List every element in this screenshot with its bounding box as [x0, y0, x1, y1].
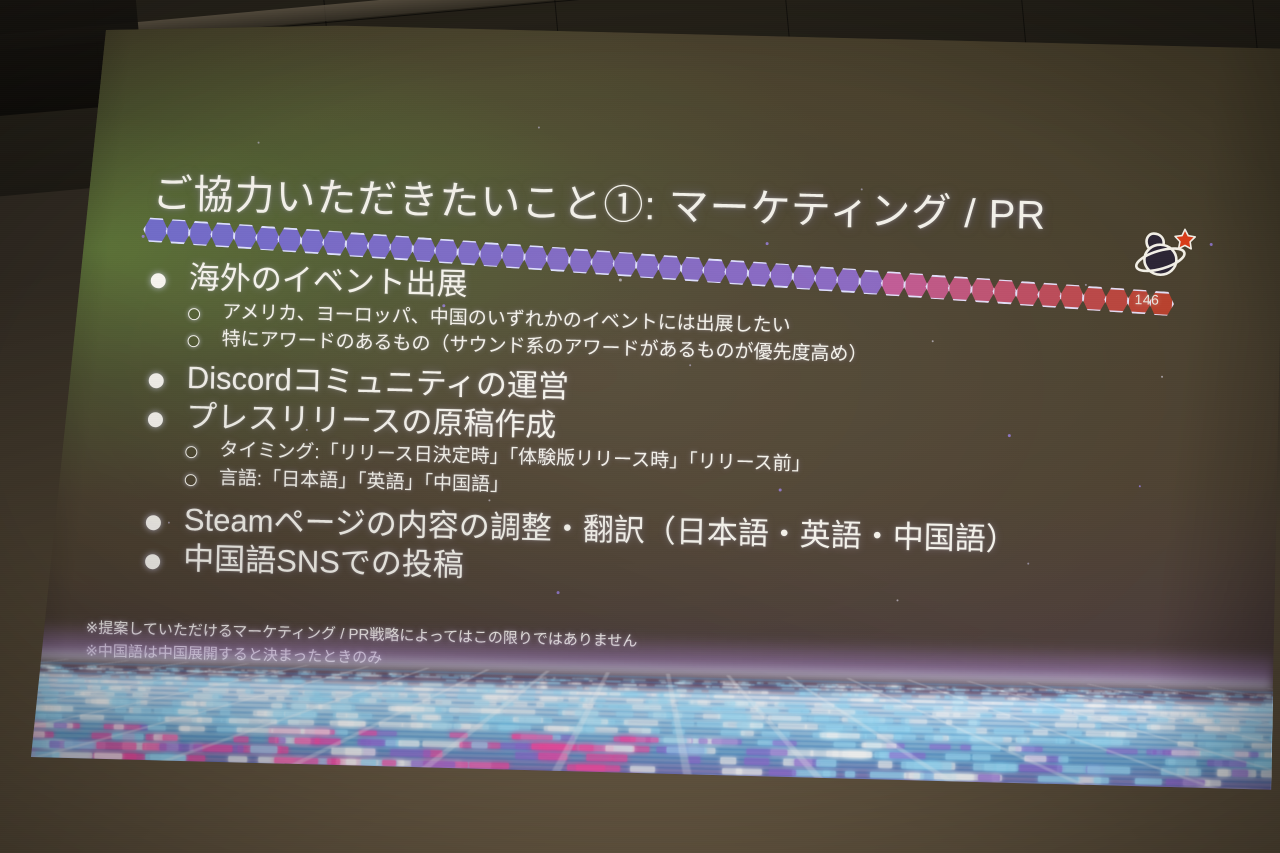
- grid-block: [1030, 738, 1058, 744]
- grid-block: [639, 684, 647, 687]
- grid-block: [258, 675, 278, 678]
- grid-block: [625, 688, 630, 691]
- grid-block: [769, 696, 779, 700]
- bullet-text: 中国語SNSでの投稿: [183, 541, 464, 583]
- grid-block: [526, 717, 551, 723]
- grid-block: [391, 706, 411, 711]
- grid-block: [91, 667, 107, 670]
- grid-block: [95, 680, 108, 684]
- grid-block: [822, 733, 838, 739]
- grid-block: [150, 672, 164, 675]
- grid-block: [423, 741, 463, 748]
- grid-block: [52, 666, 56, 668]
- grid-block: [1024, 755, 1046, 762]
- grid-block: [304, 697, 330, 702]
- grid-block: [475, 701, 490, 706]
- grid-block: [408, 707, 436, 712]
- grid-block: [291, 704, 308, 709]
- grid-block: [190, 694, 220, 699]
- grid-block: [285, 711, 316, 717]
- grid-block: [512, 685, 524, 688]
- grid-block: [390, 687, 405, 691]
- grid-block: [901, 762, 940, 769]
- grid-block: [870, 718, 885, 723]
- grid-block: [274, 719, 300, 725]
- grid-block: [121, 700, 128, 705]
- grid-block: [651, 693, 660, 697]
- grid-block: [240, 683, 250, 687]
- grid-block: [583, 697, 594, 701]
- grid-block: [1180, 706, 1193, 710]
- grid-block: [393, 760, 433, 768]
- grid-block: [722, 683, 734, 686]
- grid-block: [927, 763, 955, 770]
- grid-block: [213, 678, 235, 682]
- grid-block: [778, 702, 806, 706]
- grid-block: [550, 753, 563, 760]
- planet-cat-logo: [1129, 223, 1202, 287]
- grid-block: [649, 699, 675, 703]
- grid-block: [102, 675, 111, 678]
- grid-block: [784, 716, 807, 721]
- grid-block: [609, 692, 620, 696]
- grid-block: [559, 679, 571, 682]
- grid-block: [217, 683, 240, 687]
- grid-block: [664, 737, 691, 743]
- grid-block: [1261, 708, 1280, 712]
- grid-block: [751, 702, 767, 706]
- grid-block: [166, 668, 178, 670]
- grid-block: [618, 688, 638, 692]
- grid-block: [503, 685, 508, 688]
- grid-block: [315, 738, 341, 745]
- grid-block: [1088, 704, 1106, 708]
- grid-block: [940, 727, 975, 733]
- grid-block: [572, 677, 576, 679]
- grid-block: [622, 693, 634, 697]
- grid-block: [331, 705, 351, 710]
- grid-block: [691, 694, 707, 698]
- grid-block: [319, 704, 351, 709]
- grid-block: [153, 667, 161, 669]
- grid-block: [969, 736, 1003, 742]
- grid-block: [516, 696, 535, 700]
- grid-block: [449, 732, 468, 738]
- grid-block: [826, 724, 853, 730]
- grid-block: [840, 698, 848, 702]
- grid-block: [1078, 776, 1101, 783]
- bullet-dot-icon: [145, 554, 160, 569]
- grid-block: [1032, 693, 1042, 696]
- grid-block: [720, 681, 725, 683]
- grid-block: [58, 679, 73, 683]
- grid-block: [503, 702, 528, 707]
- grid-block: [682, 680, 695, 682]
- grid-block: [476, 684, 495, 688]
- grid-block: [806, 688, 818, 691]
- grid-block: [802, 709, 809, 713]
- grid-block: [568, 697, 587, 701]
- grid-block: [293, 697, 322, 702]
- grid-block: [512, 681, 525, 684]
- grid-block: [1275, 728, 1280, 733]
- grid-block: [327, 758, 340, 765]
- grid-block: [45, 705, 74, 711]
- grid-block: [50, 741, 60, 748]
- grid-block: [329, 720, 364, 726]
- grid-block: [523, 681, 540, 684]
- grid-block: [512, 734, 537, 740]
- grid-block: [869, 771, 905, 779]
- grid-block: [208, 669, 211, 671]
- grid-block: [162, 708, 192, 714]
- grid-block: [41, 741, 63, 748]
- grid-block: [341, 698, 365, 703]
- grid-block: [220, 718, 237, 724]
- grid-block: [641, 728, 660, 734]
- grid-block: [728, 683, 738, 686]
- grid-block: [604, 692, 623, 696]
- grid-block: [567, 764, 606, 772]
- grid-block: [1121, 700, 1128, 703]
- grid-block: [231, 669, 235, 671]
- sub-bullet-ring-icon: [188, 308, 200, 320]
- grid-block: [431, 723, 461, 729]
- grid-block: [53, 722, 66, 728]
- grid-block: [1017, 737, 1027, 743]
- grid-block: [623, 693, 637, 697]
- grid-block: [93, 685, 113, 689]
- grid-block: [371, 692, 395, 696]
- grid-block: [394, 682, 403, 685]
- projection-screen-area: ご協力いただきたいこと①: マーケティング / PR 146 海外のイベント出展: [0, 0, 1280, 853]
- grid-block: [541, 681, 548, 684]
- grid-block: [330, 673, 336, 676]
- grid-block: [741, 731, 754, 737]
- grid-block: [674, 689, 686, 692]
- grid-block: [417, 723, 447, 729]
- grid-block: [361, 672, 370, 674]
- grid-block: [153, 734, 177, 741]
- grid-block: [877, 734, 894, 740]
- grid-block: [358, 739, 384, 746]
- grid-block: [858, 693, 873, 696]
- grid-block: [734, 686, 740, 689]
- grid-block: [193, 670, 203, 673]
- grid-block: [101, 680, 118, 684]
- grid-block: [842, 751, 865, 758]
- grid-block: [1207, 760, 1246, 767]
- grid-block: [547, 682, 560, 685]
- grid-block: [1055, 722, 1078, 727]
- grid-block: [127, 671, 136, 674]
- grid-block: [808, 716, 839, 721]
- grid-block: [470, 708, 503, 713]
- grid-block: [161, 754, 185, 761]
- grid-block: [318, 758, 345, 765]
- grid-block: [663, 713, 693, 718]
- grid-block: [593, 719, 615, 724]
- grid-block: [389, 673, 397, 675]
- grid-block: [1008, 746, 1021, 752]
- grid-block: [994, 729, 1024, 735]
- grid-block: [96, 742, 136, 749]
- grid-block: [392, 675, 405, 678]
- grid-block: [864, 742, 897, 748]
- grid-block: [94, 692, 114, 697]
- grid-block: [810, 688, 821, 691]
- grid-block: [203, 688, 229, 692]
- grid-block: [341, 686, 349, 690]
- grid-block: [914, 762, 951, 769]
- grid-block: [1170, 712, 1196, 716]
- grid-block: [410, 707, 442, 712]
- grid-block: [446, 679, 457, 682]
- grid-block: [207, 702, 231, 707]
- grid-block: [163, 734, 178, 740]
- grid-block: [620, 736, 628, 742]
- grid-block: [617, 683, 636, 686]
- grid-block: [605, 745, 635, 752]
- grid-block: [332, 748, 376, 755]
- grid-block: [208, 673, 224, 676]
- grid-block: [595, 704, 603, 708]
- grid-block: [722, 714, 747, 719]
- grid-block: [820, 685, 836, 688]
- grid-block: [89, 680, 98, 684]
- grid-block: [272, 728, 305, 734]
- grid-block: [1246, 720, 1261, 725]
- grid-block: [241, 669, 245, 671]
- grid-block: [589, 692, 607, 696]
- grid-block: [848, 751, 872, 758]
- grid-block: [843, 693, 859, 696]
- grid-block: [158, 744, 203, 751]
- grid-block: [1171, 750, 1201, 756]
- grid-block: [845, 771, 855, 778]
- grid-block: [836, 704, 851, 708]
- grid-block: [115, 707, 126, 712]
- grid-block: [711, 738, 742, 744]
- grid-block: [771, 749, 813, 756]
- grid-block: [630, 681, 635, 683]
- grid-block: [155, 672, 175, 675]
- grid-block: [210, 678, 222, 681]
- grid-block: [737, 686, 748, 689]
- grid-block: [751, 708, 759, 712]
- grid-block: [274, 672, 286, 675]
- grid-block: [396, 706, 424, 711]
- grid-block: [190, 670, 207, 673]
- grid-block: [906, 762, 938, 769]
- grid-block: [485, 689, 507, 693]
- grid-block: [227, 678, 239, 681]
- grid-block: [874, 752, 913, 759]
- grid-block: [862, 718, 869, 723]
- grid-block: [960, 745, 970, 751]
- grid-block: [707, 686, 711, 689]
- grid-block: [475, 701, 497, 706]
- grid-block: [1107, 692, 1120, 695]
- grid-block: [972, 689, 980, 692]
- grid-block: [302, 729, 328, 735]
- grid-block: [389, 673, 393, 675]
- grid-block: [486, 689, 508, 693]
- grid-block: [175, 677, 186, 680]
- grid-block: [1264, 752, 1273, 758]
- grid-block: [41, 691, 58, 696]
- grid-block: [750, 723, 763, 728]
- grid-block: [419, 693, 431, 697]
- grid-block: [993, 707, 1010, 711]
- grid-block: [111, 733, 143, 740]
- grid-block: [722, 686, 738, 689]
- grid-block: [504, 695, 519, 699]
- grid-block: [261, 719, 277, 725]
- grid-block: [657, 693, 678, 697]
- grid-block: [606, 745, 634, 752]
- grid-block: [619, 705, 632, 710]
- grid-block: [1210, 751, 1232, 757]
- grid-block: [955, 692, 965, 695]
- grid-block: [720, 758, 736, 765]
- grid-block: [580, 718, 607, 724]
- grid-block: [276, 737, 286, 743]
- grid-block: [194, 682, 213, 686]
- grid-block: [338, 721, 354, 727]
- grid-block: [826, 750, 867, 757]
- grid-block: [476, 680, 484, 683]
- grid-block: [87, 685, 100, 689]
- grid-block: [839, 686, 852, 689]
- grid-block: [238, 695, 268, 700]
- grid-block: [905, 726, 932, 732]
- grid-block: [1151, 725, 1174, 730]
- grid-block: [411, 714, 438, 720]
- grid-block: [103, 686, 125, 690]
- grid-block: [427, 707, 446, 712]
- grid-block: [460, 676, 470, 679]
- grid-block: [1001, 690, 1018, 693]
- grid-block: [251, 679, 271, 683]
- grid-block: [679, 706, 701, 711]
- grid-block: [612, 745, 650, 752]
- grid-block: [238, 674, 249, 677]
- grid-block: [500, 725, 532, 731]
- grid-block: [271, 703, 283, 708]
- grid-block: [302, 691, 314, 695]
- grid-block: [762, 731, 790, 737]
- grid-block: [1121, 711, 1127, 715]
- grid-block: [424, 760, 468, 768]
- grid-block: [705, 685, 709, 688]
- grid-block: [868, 685, 876, 687]
- grid-block: [775, 682, 784, 684]
- grid-block: [973, 764, 1018, 771]
- grid-block: [423, 683, 444, 687]
- grid-block: [1041, 698, 1051, 701]
- grid-block: [96, 699, 112, 704]
- grid-block: [953, 688, 966, 691]
- grid-block: [576, 678, 588, 680]
- grid-block: [31, 731, 53, 738]
- grid-block: [348, 721, 361, 727]
- sub-bullet-ring-icon: [187, 335, 199, 347]
- grid-block: [295, 737, 320, 744]
- grid-block: [632, 679, 646, 681]
- grid-block: [138, 687, 150, 691]
- grid-block: [690, 700, 711, 704]
- grid-block: [783, 759, 812, 766]
- grid-block: [728, 690, 739, 693]
- grid-block: [756, 708, 779, 713]
- grid-block: [718, 714, 751, 719]
- grid-block: [1092, 699, 1106, 702]
- grid-block: [851, 698, 874, 702]
- grid-block: [31, 741, 65, 748]
- grid-block: [171, 669, 179, 672]
- grid-block: [1165, 779, 1204, 787]
- grid-block: [172, 668, 184, 670]
- grid-block: [500, 743, 538, 750]
- grid-block: [346, 713, 358, 718]
- grid-block: [934, 735, 949, 741]
- grid-block: [598, 687, 608, 690]
- grid-block: [971, 736, 991, 742]
- grid-block: [1214, 702, 1223, 705]
- grid-block: [832, 685, 846, 688]
- grid-block: [59, 723, 73, 729]
- grid-block: [74, 691, 84, 695]
- grid-block: [730, 701, 755, 705]
- grid-block: [579, 718, 601, 723]
- grid-block: [579, 744, 594, 750]
- grid-block: [1269, 721, 1278, 725]
- grid-block: [398, 740, 419, 747]
- grid-block: [924, 735, 942, 741]
- grid-block: [837, 686, 845, 689]
- grid-block: [536, 681, 540, 684]
- grid-block: [357, 674, 367, 677]
- grid-block: [348, 713, 372, 719]
- grid-block: [294, 680, 302, 683]
- grid-block: [746, 749, 788, 756]
- grid-block: [284, 711, 315, 717]
- grid-block: [124, 715, 161, 721]
- grid-block: [498, 725, 519, 731]
- grid-block: [1106, 748, 1137, 754]
- grid-block: [209, 688, 226, 692]
- grid-block: [173, 754, 189, 761]
- grid-block: [503, 677, 512, 680]
- grid-block: [582, 697, 606, 701]
- grid-block: [469, 762, 509, 770]
- grid-block: [736, 768, 762, 775]
- grid-block: [359, 698, 381, 703]
- grid-block: [47, 666, 55, 669]
- grid-block: [301, 712, 314, 717]
- grid-block: [461, 675, 470, 677]
- grid-block: [889, 690, 893, 693]
- grid-block: [1168, 759, 1196, 766]
- grid-block: [1019, 765, 1062, 772]
- sub-bullet-text: 言語:「日本語」「英語」「中国語」: [219, 467, 510, 495]
- grid-block: [423, 750, 443, 757]
- grid-block: [162, 672, 170, 675]
- grid-block: [1200, 713, 1206, 717]
- grid-block: [545, 678, 555, 681]
- grid-block: [738, 682, 746, 684]
